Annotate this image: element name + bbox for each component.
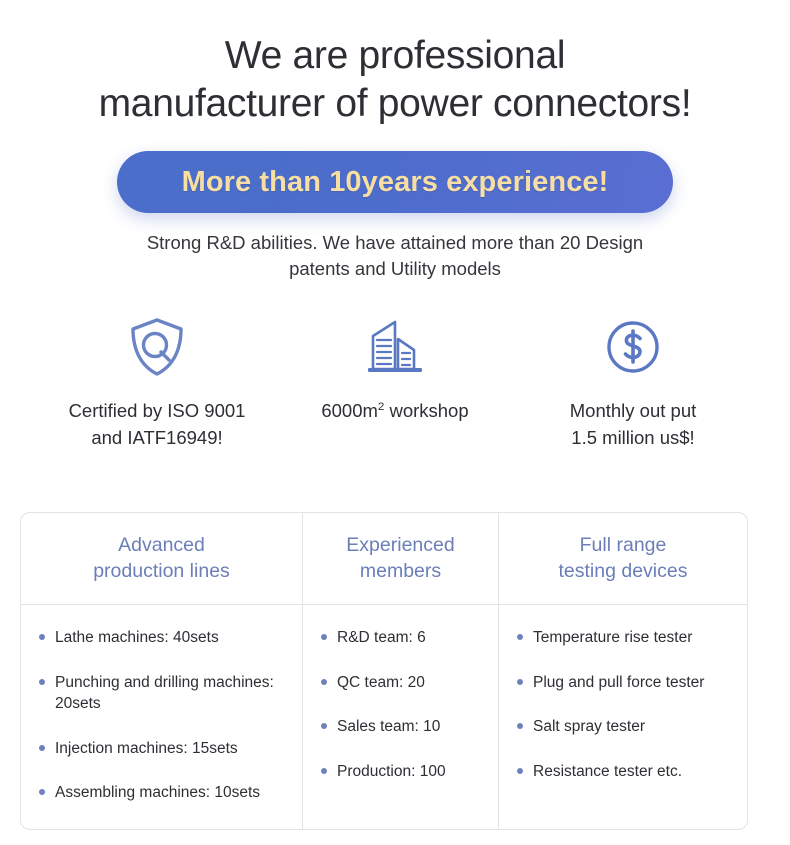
list-item: Lathe machines: 40sets (35, 627, 290, 648)
column-header-production: Advanced production lines (21, 513, 302, 604)
workshop-area: 6000m (321, 400, 378, 421)
members-list: R&D team: 6 QC team: 20 Sales team: 10 P… (317, 627, 486, 782)
list-item: R&D team: 6 (317, 627, 486, 648)
column-body-production: Lathe machines: 40sets Punching and dril… (21, 605, 302, 829)
testing-list: Temperature rise tester Plug and pull fo… (513, 627, 735, 782)
workshop-line-1: 6000m2 workshop (321, 398, 468, 425)
column-header-testing-line-1: Full range (509, 533, 737, 559)
page-title: We are professional manufacturer of powe… (0, 0, 790, 127)
column-body-testing: Temperature rise tester Plug and pull fo… (498, 605, 747, 829)
column-body-members: R&D team: 6 QC team: 20 Sales team: 10 P… (302, 605, 498, 829)
subtitle: Strong R&D abilities. We have attained m… (95, 230, 695, 283)
capabilities-table: Advanced production lines Experienced me… (20, 512, 748, 830)
column-header-production-line-2: production lines (31, 559, 292, 585)
workshop-label: workshop (384, 400, 468, 421)
feature-output: Monthly out put 1.5 million us$! (514, 316, 752, 452)
subtitle-line-2: patents and Utility models (95, 256, 695, 282)
list-item: Salt spray tester (513, 716, 735, 737)
feature-certification: Certified by ISO 9001 and IATF16949! (38, 316, 276, 452)
factory-building-icon (364, 316, 426, 378)
feature-workshop: 6000m2 workshop (276, 316, 514, 452)
headline-line-2: manufacturer of power connectors! (55, 80, 735, 128)
list-item: Assembling machines: 10sets (35, 782, 290, 803)
headline-line-1: We are professional (55, 32, 735, 80)
column-header-members-line-2: members (313, 559, 488, 585)
list-item: Plug and pull force tester (513, 672, 735, 693)
list-item: Injection machines: 15sets (35, 738, 290, 759)
subtitle-line-1: Strong R&D abilities. We have attained m… (95, 230, 695, 256)
feature-row: Certified by ISO 9001 and IATF16949! (0, 316, 790, 452)
feature-output-caption: Monthly out put 1.5 million us$! (570, 398, 697, 452)
experience-banner: More than 10years experience! (117, 151, 673, 213)
list-item: Punching and drilling machines: 20sets (35, 672, 290, 715)
list-item: Sales team: 10 (317, 716, 486, 737)
production-list: Lathe machines: 40sets Punching and dril… (35, 627, 290, 803)
certification-line-2: and IATF16949! (69, 425, 246, 452)
column-header-testing: Full range testing devices (498, 513, 747, 604)
feature-certification-caption: Certified by ISO 9001 and IATF16949! (69, 398, 246, 452)
list-item: QC team: 20 (317, 672, 486, 693)
capabilities-table-body: Lathe machines: 40sets Punching and dril… (21, 605, 747, 829)
column-header-members: Experienced members (302, 513, 498, 604)
list-item: Temperature rise tester (513, 627, 735, 648)
promo-page: We are professional manufacturer of powe… (0, 0, 790, 845)
list-item: Production: 100 (317, 761, 486, 782)
dollar-circle-icon (604, 316, 662, 378)
output-line-2: 1.5 million us$! (570, 425, 697, 452)
certification-line-1: Certified by ISO 9001 (69, 398, 246, 425)
output-line-1: Monthly out put (570, 398, 697, 425)
shield-quality-icon (128, 316, 186, 378)
capabilities-table-header: Advanced production lines Experienced me… (21, 513, 747, 605)
feature-workshop-caption: 6000m2 workshop (321, 398, 468, 425)
list-item: Resistance tester etc. (513, 761, 735, 782)
column-header-testing-line-2: testing devices (509, 559, 737, 585)
column-header-production-line-1: Advanced (31, 533, 292, 559)
experience-banner-wrap: More than 10years experience! (0, 151, 790, 213)
column-header-members-line-1: Experienced (313, 533, 488, 559)
